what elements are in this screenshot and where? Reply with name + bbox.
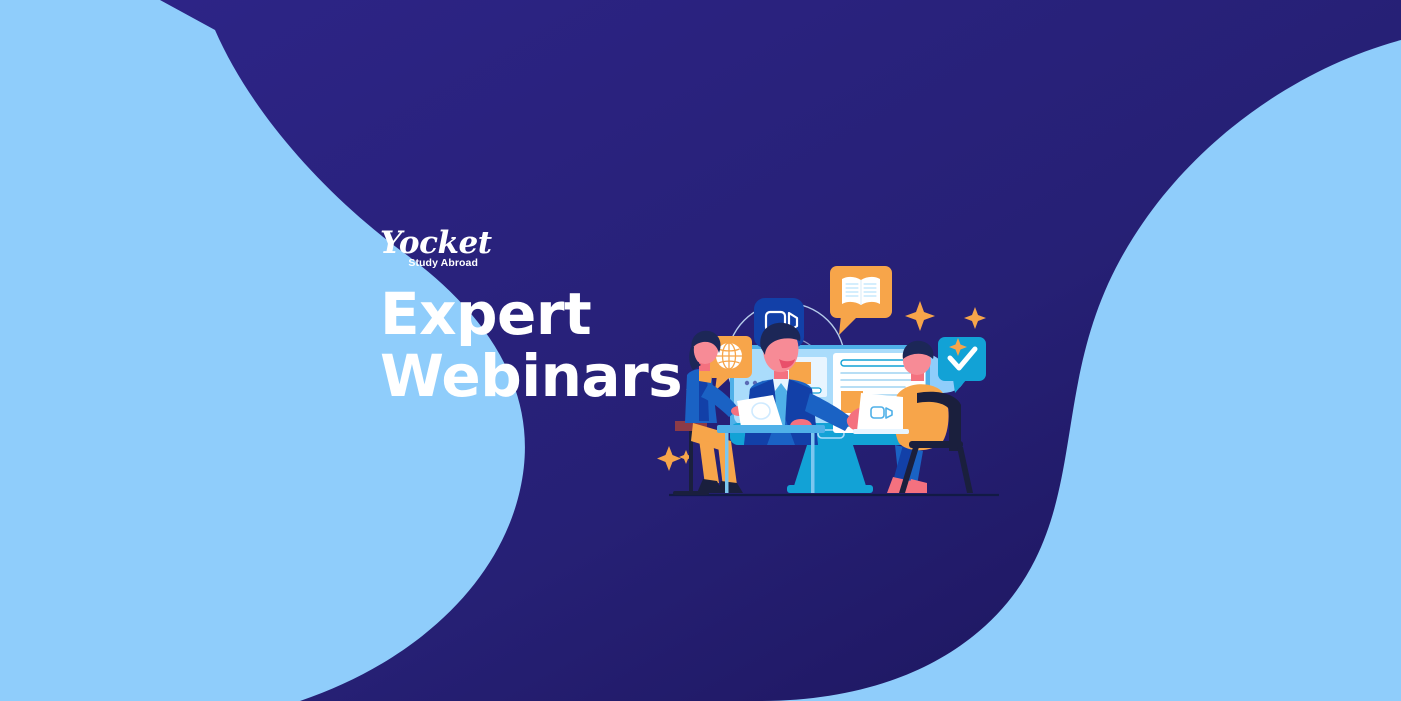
logo-tagline: Study Abroad xyxy=(408,258,478,269)
logo-wordmark: Yocket xyxy=(380,228,476,259)
attendee-right-laptop xyxy=(853,393,909,434)
webinar-banner: Yocket Study Abroad Expert Webinars xyxy=(0,0,1401,701)
book-speech-bubble-icon[interactable] xyxy=(830,266,892,335)
monitor-stand xyxy=(787,445,873,493)
headline-line-2: Webinars xyxy=(380,345,700,407)
headline-line-1: Expert xyxy=(380,283,700,345)
banner-content: Yocket Study Abroad Expert Webinars xyxy=(380,228,700,407)
webinar-illustration xyxy=(655,255,1015,515)
yocket-logo[interactable]: Yocket Study Abroad xyxy=(380,228,476,270)
page-title: Expert Webinars xyxy=(380,283,700,407)
